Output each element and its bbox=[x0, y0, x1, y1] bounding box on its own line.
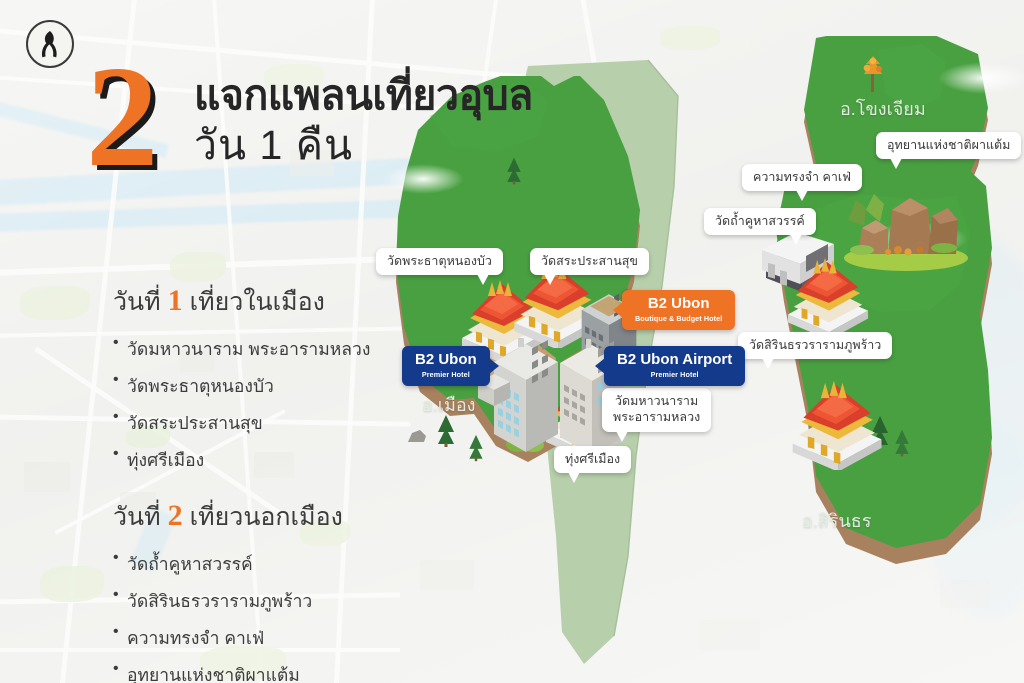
district-label-khong-chiam: อ.โขงเจียม bbox=[840, 94, 926, 123]
list-item: วัดสระประสานสุข bbox=[113, 409, 370, 437]
callout-thung-si-mueang[interactable]: ทุ่งศรีเมือง bbox=[554, 446, 631, 473]
badge-b2-ubon-boutique[interactable]: B2 Ubon Boutique & Budget Hotel bbox=[622, 290, 735, 330]
day-2-itinerary: วันที่ 2 เที่ยวนอกเมือง วัดถ้ำคูหาสวรรค์… bbox=[113, 497, 343, 683]
day-1-number: 1 bbox=[168, 284, 183, 318]
callout-wat-sirindhorn-wararam[interactable]: วัดสิรินธรวรารามภูพร้าว bbox=[738, 332, 892, 359]
headline-line-1: แจกแพลนเที่ยวอุบล bbox=[194, 72, 533, 119]
badge-b2-ubon-airport[interactable]: B2 Ubon Airport Premier Hotel bbox=[604, 346, 745, 386]
callout-wat-maha-wanaram[interactable]: วัดมหาวนาราม พระอารามหลวง bbox=[602, 388, 711, 432]
day-1-list: วัดมหาวนาราม พระอารามหลวง วัดพระธาตุหนอง… bbox=[113, 335, 370, 474]
callout-label: ความทรงจำ คาเฟ่ bbox=[753, 170, 851, 184]
badge-subtitle: Premier Hotel bbox=[617, 370, 732, 379]
list-item: วัดถ้ำคูหาสวรรค์ bbox=[113, 550, 343, 578]
callout-label: วัดสระประสานสุข bbox=[541, 254, 638, 268]
headline-number: 2 bbox=[86, 58, 159, 177]
callout-wat-phrathat-nong-bua[interactable]: วัดพระธาตุหนองบัว bbox=[376, 248, 503, 275]
list-item: ทุ่งศรีเมือง bbox=[113, 446, 370, 474]
day-1-prefix: วันที่ bbox=[113, 282, 161, 322]
list-item: อุทยานแห่งชาติผาแต้ม bbox=[113, 661, 343, 683]
callout-label-line2: พระอารามหลวง bbox=[613, 410, 700, 424]
list-item: วัดพระธาตุหนองบัว bbox=[113, 372, 370, 400]
callout-label: วัดถ้ำคูหาสวรรค์ bbox=[715, 214, 805, 228]
badge-b2-ubon-premier[interactable]: B2 Ubon Premier Hotel bbox=[402, 346, 490, 386]
badge-title: B2 Ubon bbox=[635, 296, 722, 312]
day-2-prefix: วันที่ bbox=[113, 497, 161, 537]
day-1-heading: วันที่ 1 เที่ยวในเมือง bbox=[113, 282, 370, 322]
list-item: วัดมหาวนาราม พระอารามหลวง bbox=[113, 335, 370, 363]
callout-wat-tham-khuha-sawan[interactable]: วัดถ้ำคูหาสวรรค์ bbox=[704, 208, 816, 235]
callout-label: วัดพระธาตุหนองบัว bbox=[387, 254, 492, 268]
callout-label: อุทยานแห่งชาติผาแต้ม bbox=[887, 138, 1010, 152]
callout-memory-cafe[interactable]: ความทรงจำ คาเฟ่ bbox=[742, 164, 862, 191]
day-1-itinerary: วันที่ 1 เที่ยวในเมือง วัดมหาวนาราม พระอ… bbox=[113, 282, 370, 483]
list-item: วัดสิรินธรวรารามภูพร้าว bbox=[113, 587, 343, 615]
autumn-tree-icon bbox=[860, 54, 886, 94]
badge-subtitle: Premier Hotel bbox=[415, 370, 477, 379]
badge-title: B2 Ubon bbox=[415, 352, 477, 368]
tree-icon bbox=[892, 428, 912, 458]
mourning-ribbon-logo bbox=[26, 20, 74, 68]
district-label-sirindhorn: อ.สิรินธร bbox=[802, 506, 871, 535]
headline-line-2: วัน 1 คืน bbox=[194, 121, 533, 170]
callout-label: วัดสิรินธรวรารามภูพร้าว bbox=[749, 338, 881, 352]
badge-subtitle: Boutique & Budget Hotel bbox=[635, 314, 722, 323]
mourning-ribbon-icon bbox=[37, 29, 63, 59]
day-2-number: 2 bbox=[168, 499, 183, 533]
callout-pha-taem-national-park[interactable]: อุทยานแห่งชาติผาแต้ม bbox=[876, 132, 1021, 159]
callout-label: ทุ่งศรีเมือง bbox=[565, 452, 620, 466]
tree-icon bbox=[466, 434, 486, 462]
day-2-list: วัดถ้ำคูหาสวรรค์ วัดสิรินธรวรารามภูพร้าว… bbox=[113, 550, 343, 683]
callout-wat-sa-prasan-suk[interactable]: วัดสระประสานสุข bbox=[530, 248, 649, 275]
list-item: ความทรงจำ คาเฟ่ bbox=[113, 624, 343, 652]
temple-icon bbox=[780, 254, 874, 338]
badge-title: B2 Ubon Airport bbox=[617, 352, 732, 368]
day-2-heading: วันที่ 2 เที่ยวนอกเมือง bbox=[113, 497, 343, 537]
tree-icon bbox=[434, 414, 458, 448]
day-1-suffix: เที่ยวในเมือง bbox=[190, 282, 325, 322]
callout-label-line1: วัดมหาวนาราม bbox=[615, 394, 698, 408]
temple-icon bbox=[784, 376, 888, 470]
day-2-suffix: เที่ยวนอกเมือง bbox=[190, 497, 343, 537]
rock-icon bbox=[406, 428, 428, 444]
